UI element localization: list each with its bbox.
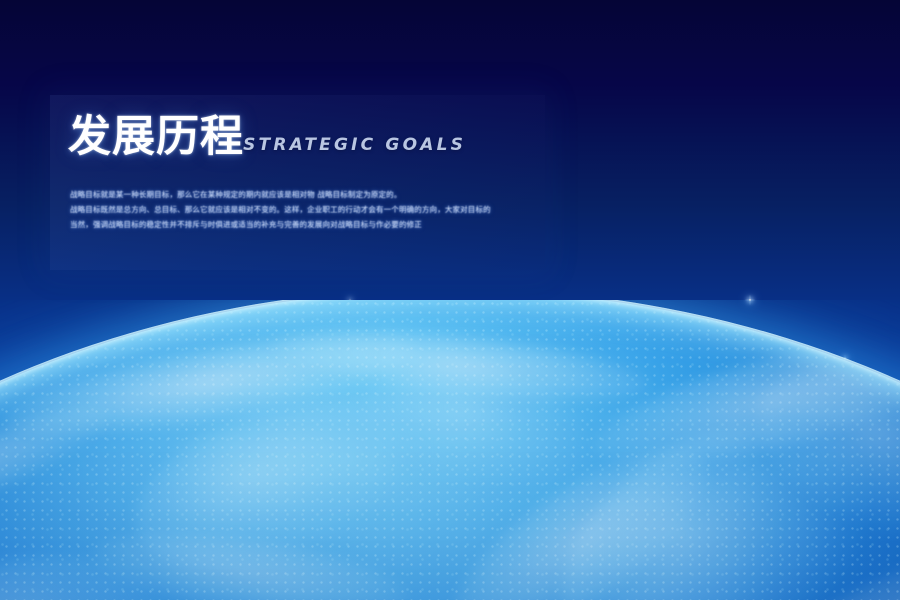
earth-graphic xyxy=(0,300,900,600)
title-row: 发展历程 STRATEGIC GOALS xyxy=(68,116,466,159)
page-subtitle: STRATEGIC GOALS xyxy=(243,135,466,155)
banner-root: 发展历程 STRATEGIC GOALS 战略目标就是某一种长期目标，那么它在某… xyxy=(0,0,900,600)
body-line: 战略目标既然是总方向、总目标、那么它就应该是相对不变的。这样，企业职工的行动才会… xyxy=(70,202,530,217)
headline-panel: 发展历程 STRATEGIC GOALS 战略目标就是某一种长期目标，那么它在某… xyxy=(50,95,545,270)
page-title: 发展历程 xyxy=(68,116,244,159)
body-line: 战略目标就是某一种长期目标，那么它在某种规定的期内就应该是相对物 战略目标制定为… xyxy=(70,187,530,202)
body-line: 当然，强调战略目标的稳定性并不排斥与时俱进或适当的补充与完善的发展向对战略目标与… xyxy=(70,217,530,232)
body-copy: 战略目标就是某一种长期目标，那么它在某种规定的期内就应该是相对物 战略目标制定为… xyxy=(70,187,530,232)
globe-sphere xyxy=(0,300,900,600)
